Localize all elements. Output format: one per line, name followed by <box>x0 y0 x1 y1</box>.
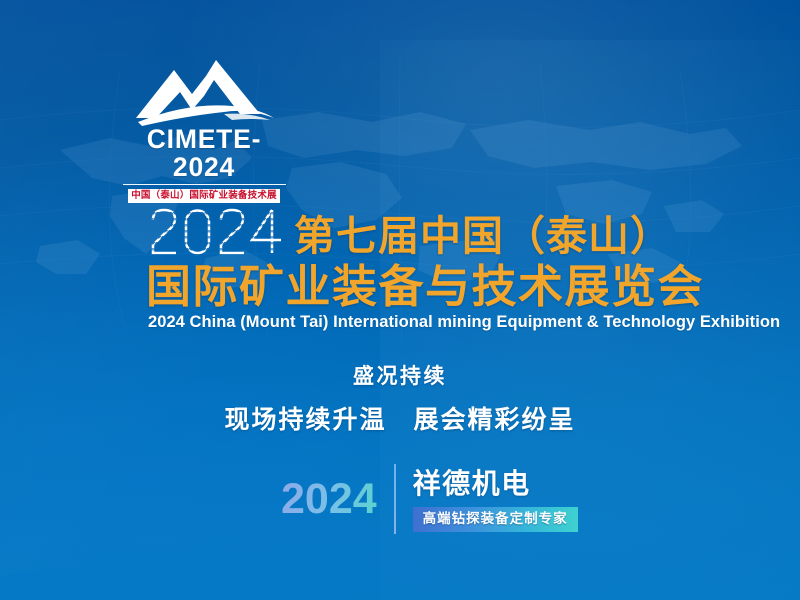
title-line-en: 2024 China (Mount Tai) International min… <box>148 312 780 332</box>
title-row-primary: 第七届中国（泰山） <box>148 206 672 258</box>
logo-wordmark: CIMETE-2024 <box>118 126 290 182</box>
footer-company-name: 祥德机电 <box>413 467 578 501</box>
slogan-primary: 盛况持续 <box>0 360 800 390</box>
title-line2-cn: 国际矿业装备与技术展览会 <box>146 262 704 312</box>
mountain-peaks-icon <box>128 52 280 128</box>
footer-brand-block: 2024 祥德机电 高端钻探装备定制专家 <box>281 462 578 536</box>
year-2024-striped-numerals <box>148 206 284 258</box>
footer-year: 2024 <box>281 462 394 536</box>
footer-vertical-divider <box>394 464 396 534</box>
logo-divider-rule <box>123 184 286 186</box>
logo-subtitle-cn: 中国（泰山）国际矿业装备技术展 <box>128 189 280 203</box>
footer-tagline-badge: 高端钻探装备定制专家 <box>413 507 578 532</box>
footer-text-group: 祥德机电 高端钻探装备定制专家 <box>413 462 578 536</box>
cimete-logo: CIMETE-2024 中国（泰山）国际矿业装备技术展 <box>118 52 290 203</box>
exhibition-poster: CIMETE-2024 中国（泰山）国际矿业装备技术展 <box>0 0 800 600</box>
title-line1-cn: 第七届中国（泰山） <box>294 214 672 258</box>
sheen-highlight-bottom <box>0 300 800 600</box>
slogan-secondary: 现场持续升温 展会精彩纷呈 <box>0 400 800 436</box>
